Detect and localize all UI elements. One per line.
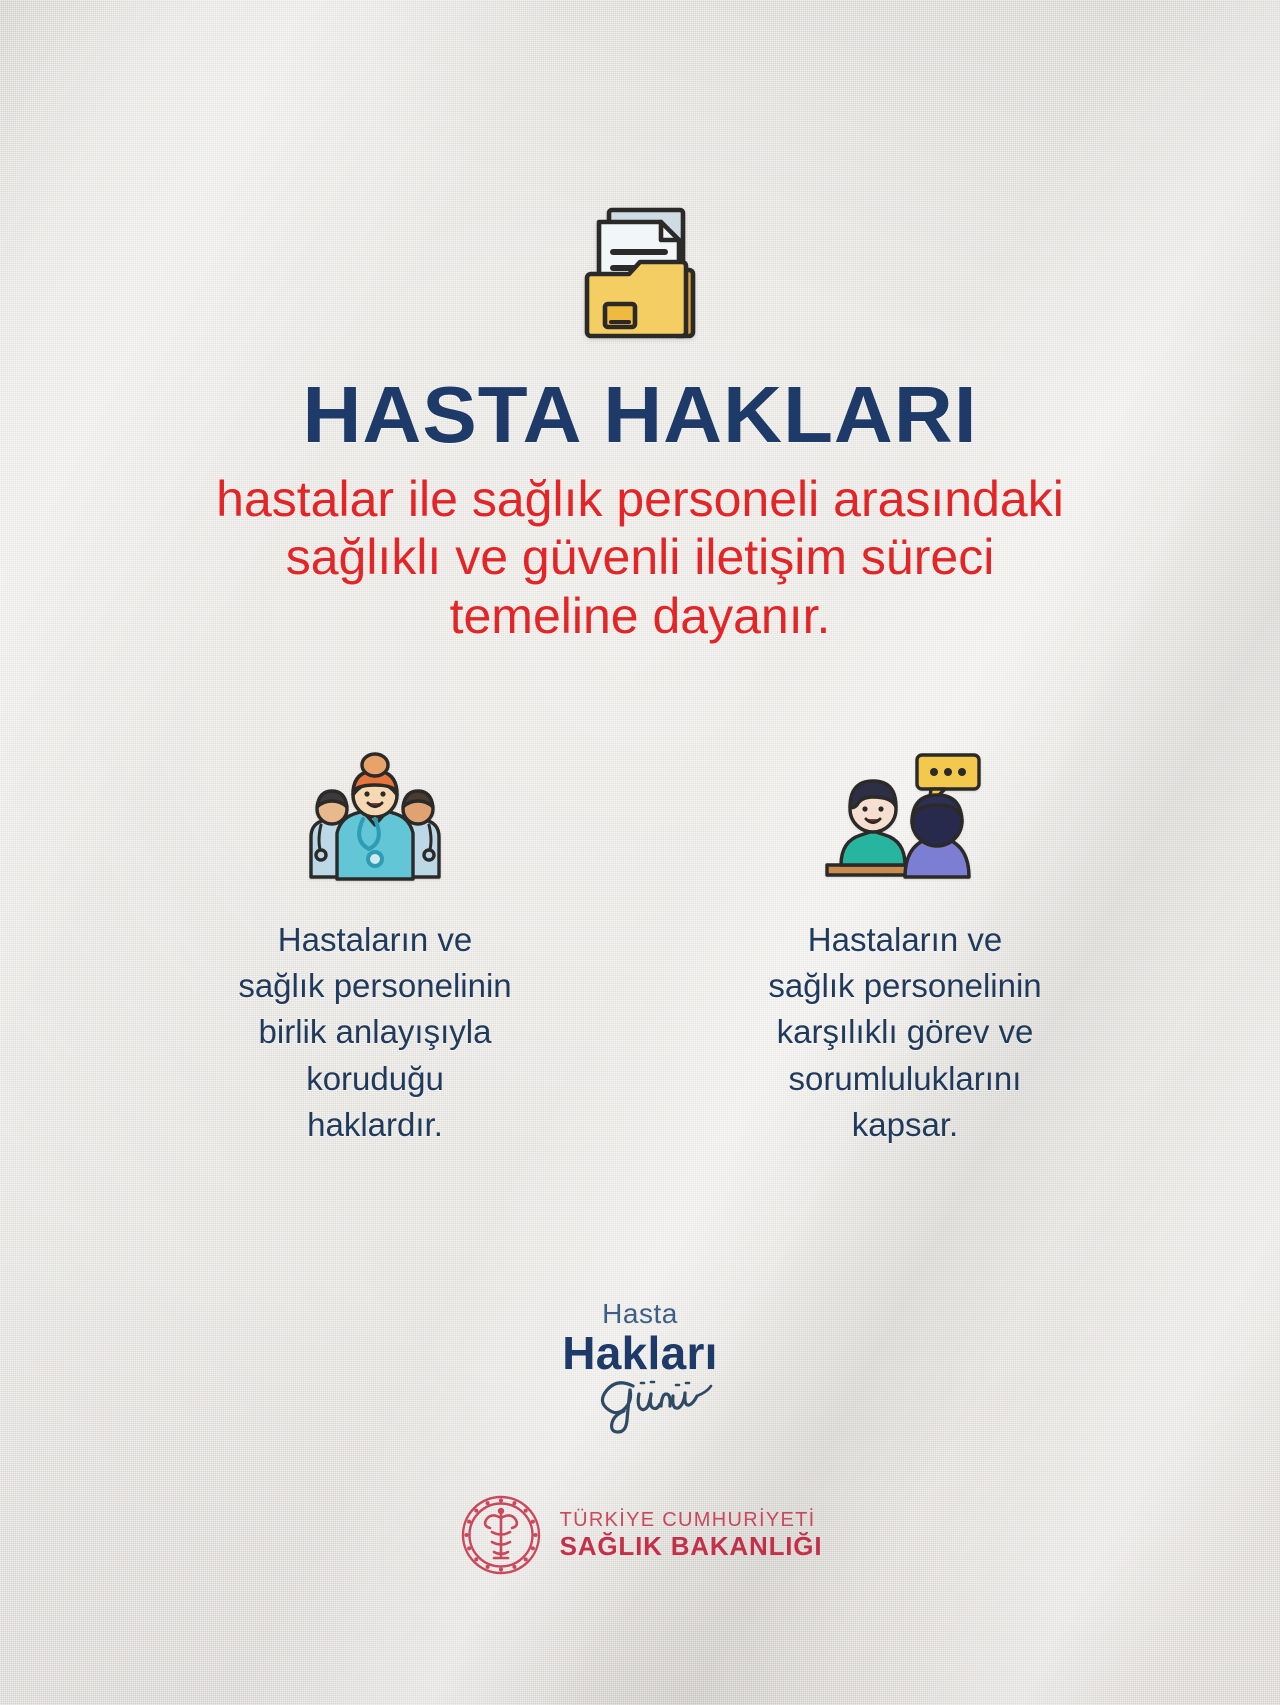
poster-background: HASTA HAKLARI hastalar ile sağlık person… <box>0 0 1280 1705</box>
ministry-logo: TÜRKİYE CUMHURİYETİ SAĞLIK BAKANLIĞI <box>0 1492 1280 1578</box>
subtitle-line-1: hastalar ile sağlık personeli arasındaki <box>150 470 1130 529</box>
caption-line: sorumluluklarını <box>768 1056 1041 1102</box>
caption-line: Hastaların ve <box>238 917 511 963</box>
caption-line: Hastaların ve <box>768 917 1041 963</box>
column-right-caption: Hastaların ve sağlık personelinin karşıl… <box>768 917 1041 1148</box>
caption-line: sağlık personelinin <box>238 963 511 1009</box>
caption-line: haklardır. <box>238 1102 511 1148</box>
two-people-talking-icon <box>821 747 989 881</box>
column-right-art <box>821 741 989 881</box>
lockup-line-gunu-script <box>593 1370 733 1436</box>
subtitle: hastalar ile sağlık personeli arasındaki… <box>150 470 1130 646</box>
header-icon-wrap <box>0 0 1280 348</box>
ministry-line-2: SAĞLIK BAKANLIĞI <box>560 1532 823 1561</box>
caption-line: sağlık personelinin <box>768 963 1041 1009</box>
folder-documents-icon <box>565 196 715 348</box>
page-title: HASTA HAKLARI <box>0 374 1280 456</box>
column-right: Hastaların ve sağlık personelinin karşıl… <box>705 741 1105 1148</box>
columns-row: Hastaların ve sağlık personelinin birlik… <box>0 741 1280 1148</box>
column-left: Hastaların ve sağlık personelinin birlik… <box>175 741 575 1148</box>
caption-line: koruduğu <box>238 1056 511 1102</box>
caption-line: karşılıklı görev ve <box>768 1009 1041 1055</box>
caption-line: kapsar. <box>768 1102 1041 1148</box>
ministry-line-1: TÜRKİYE CUMHURİYETİ <box>560 1509 823 1531</box>
column-left-caption: Hastaların ve sağlık personelinin birlik… <box>238 917 511 1148</box>
health-personnel-group-icon <box>291 747 459 881</box>
campaign-lockup: Hasta Hakları <box>0 1298 1280 1436</box>
caption-line: birlik anlayışıyla <box>238 1009 511 1055</box>
subtitle-line-2: sağlıklı ve güvenli iletişim süreci <box>150 528 1130 587</box>
subtitle-line-3: temeline dayanır. <box>150 587 1130 646</box>
column-left-art <box>291 741 459 881</box>
turkish-health-ministry-crest-icon <box>458 1492 544 1578</box>
ministry-text: TÜRKİYE CUMHURİYETİ SAĞLIK BAKANLIĞI <box>560 1509 823 1561</box>
